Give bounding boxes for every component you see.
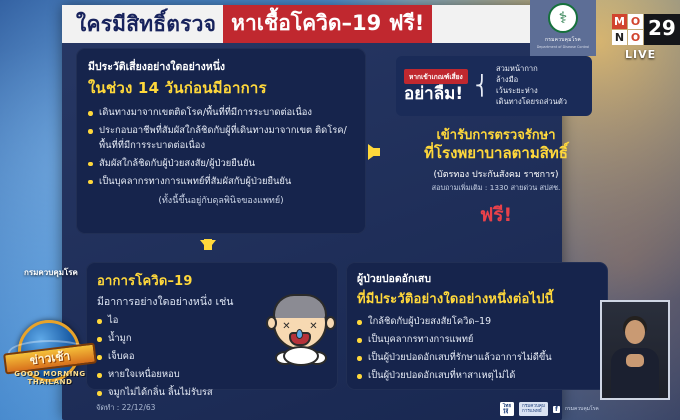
- risk-panel-subtitle: มีประวัติเสี่ยงอย่างใดอย่างหนึ่ง: [88, 58, 354, 75]
- interpreter-hands: [626, 354, 644, 367]
- face-eye-right: ✕: [308, 322, 319, 331]
- footer-logo-1-line2: รู้สู้: [503, 409, 511, 415]
- hospital-line-1: เข้ารับการตรวจรักษา: [392, 128, 600, 144]
- risk-panel-note: (ทั้งนี้ขึ้นอยู่กับดุลพินิจของแพทย์): [88, 193, 354, 207]
- face-hair: [273, 294, 327, 318]
- page-title: ใครมีสิทธิ์ตรวจ: [76, 8, 216, 41]
- list-item: เป็นผู้ป่วยปอดอักเสบที่รักษาแล้วอาการไม่…: [357, 351, 597, 366]
- list-item: เว้นระยะห่าง: [496, 86, 567, 97]
- risk-panel-title: ในช่วง 14 วันก่อนมีอาการ: [88, 76, 354, 100]
- reminder-list: สวมหน้ากาก ล้างมือ เว้นระยะห่าง เดินทางโ…: [496, 64, 567, 107]
- brace-icon: ⎨: [475, 77, 489, 96]
- program-name-th: ข่าวเช้า: [29, 347, 72, 371]
- hospital-coverage: (บัตรทอง ประกันสังคม ราชการ): [392, 167, 600, 181]
- channel-logo: M O N O 29: [612, 14, 680, 45]
- list-item: ประกอบอาชีพที่สัมผัสใกล้ชิดกับผู้ที่เดิน…: [88, 124, 354, 153]
- facebook-icon: f: [553, 406, 560, 413]
- footer-logo-1: ไทย รู้สู้: [500, 402, 514, 416]
- reminder-headline-group: หากเข้าเกณฑ์เสี่ยง อย่าลืม!: [404, 69, 468, 104]
- list-item: เดินทางมาจากเขตติดโรค/พื้นที่ที่มีการระบ…: [88, 106, 354, 121]
- pneumonia-panel-title: ที่มีประวัติอย่างใดอย่างหนึ่งต่อไปนี้: [357, 288, 597, 309]
- hospital-instruction-block: เข้ารับการตรวจรักษา ที่โรงพยาบาลตามสิทธิ…: [392, 128, 600, 194]
- list-item: จมูกไม่ได้กลิ่น ลิ้นไม่รับรส: [97, 386, 327, 401]
- facebook-page-name: กรมควบคุมโรค: [565, 405, 599, 413]
- reminder-panel: หากเข้าเกณฑ์เสี่ยง อย่าลืม! ⎨ สวมหน้ากาก…: [396, 56, 592, 116]
- dept-overlay-tag: กรมควบคุมโรค: [24, 266, 78, 279]
- logo-letter-o2: O: [628, 30, 643, 45]
- footer-logos: ไทย รู้สู้ กรมควบคุม การแพทย์ f กรมควบคุ…: [500, 402, 599, 416]
- list-item: เดินทางโดยรถส่วนตัว: [496, 97, 567, 108]
- list-item: ล้างมือ: [496, 75, 567, 86]
- hospital-hotline: สอบถามเพิ่มเติม : 1330 สายด่วน สปสช.: [392, 183, 600, 194]
- list-item: สวมหน้ากาก: [496, 64, 567, 75]
- list-item: เป็นบุคลากรทางการแพทย์: [357, 333, 597, 348]
- mono-letter-grid: M O N O: [612, 14, 643, 45]
- program-name-en-line1: GOOD MORNING: [6, 370, 94, 378]
- list-item: เป็นบุคลากรทางการแพทย์ที่สัมผัสกับผู้ป่ว…: [88, 175, 354, 190]
- ministry-name-en: Department of Disease Control: [537, 45, 590, 49]
- risk-criteria-tag: หากเข้าเกณฑ์เสี่ยง: [404, 69, 468, 84]
- reminder-headline: อย่าลืม!: [404, 86, 463, 104]
- list-item: สัมผัสใกล้ชิดกับผู้ป่วยสงสัย/ผู้ป่วยยืนย…: [88, 157, 354, 172]
- face-sneeze-puff: [283, 346, 319, 366]
- face-eye-left: ✕: [281, 322, 292, 331]
- program-name-en-line2: THAILAND: [6, 378, 94, 386]
- header-highlight: หาเชื้อโควิด–19 ฟรี!: [223, 5, 432, 43]
- hospital-line-2: ที่โรงพยาบาลตามสิทธิ์: [392, 144, 600, 164]
- ministry-seal-block: ⚕ กรมควบคุมโรค Department of Disease Con…: [530, 0, 596, 56]
- face-ear-left: [266, 316, 277, 330]
- ministry-name-th: กรมควบคุมโรค: [545, 36, 581, 44]
- logo-channel-number: 29: [644, 14, 680, 45]
- broadcast-screen: ใครมีสิทธิ์ตรวจ หาเชื้อโควิด–19 ฟรี! ⚕ ก…: [0, 0, 680, 420]
- footer-logo-2: กรมควบคุม การแพทย์: [519, 402, 548, 416]
- logo-letter-m: M: [612, 14, 627, 29]
- free-label: ฟรี!: [392, 200, 600, 230]
- live-badge: LIVE: [625, 48, 656, 61]
- list-item: เป็นผู้ป่วยปอดอักเสบที่หาสาเหตุไม่ได้: [357, 369, 597, 384]
- pneumonia-panel-subtitle: ผู้ป่วยปอดอักเสบ: [357, 270, 597, 287]
- sign-language-interpreter-inset: [600, 300, 670, 400]
- caduceus-icon: ⚕: [548, 3, 578, 33]
- list-item: หายใจเหนื่อยหอบ: [97, 368, 327, 383]
- arrow-right-icon: [368, 144, 379, 160]
- face-droplet: [296, 329, 303, 339]
- pneumonia-list: ใกล้ชิดกับผู้ป่วยสงสัยโควิด–19 เป็นบุคลา…: [357, 315, 597, 384]
- header-bar: ใครมีสิทธิ์ตรวจ หาเชื้อโควิด–19 ฟรี!: [62, 5, 542, 43]
- face-ear-right: [325, 316, 336, 330]
- sneezing-face-icon: ✕ ✕: [265, 288, 337, 370]
- interpreter-head: [625, 320, 645, 344]
- pneumonia-panel: ผู้ป่วยปอดอักเสบ ที่มีประวัติอย่างใดอย่า…: [346, 262, 608, 390]
- arrow-down-icon: [200, 240, 216, 250]
- logo-letter-n: N: [612, 30, 627, 45]
- program-logo: ข่าวเช้า GOOD MORNING THAILAND: [4, 318, 96, 396]
- risk-history-panel: มีประวัติเสี่ยงอย่างใดอย่างหนึ่ง ในช่วง …: [76, 48, 366, 234]
- list-item: ใกล้ชิดกับผู้ป่วยสงสัยโควิด–19: [357, 315, 597, 330]
- risk-list: เดินทางมาจากเขตติดโรค/พื้นที่ที่มีการระบ…: [88, 106, 354, 189]
- logo-letter-o1: O: [628, 14, 643, 29]
- publish-date: จัดทำ : 22/12/63: [96, 402, 155, 414]
- footer-logo-2-line2: การแพทย์: [522, 409, 545, 415]
